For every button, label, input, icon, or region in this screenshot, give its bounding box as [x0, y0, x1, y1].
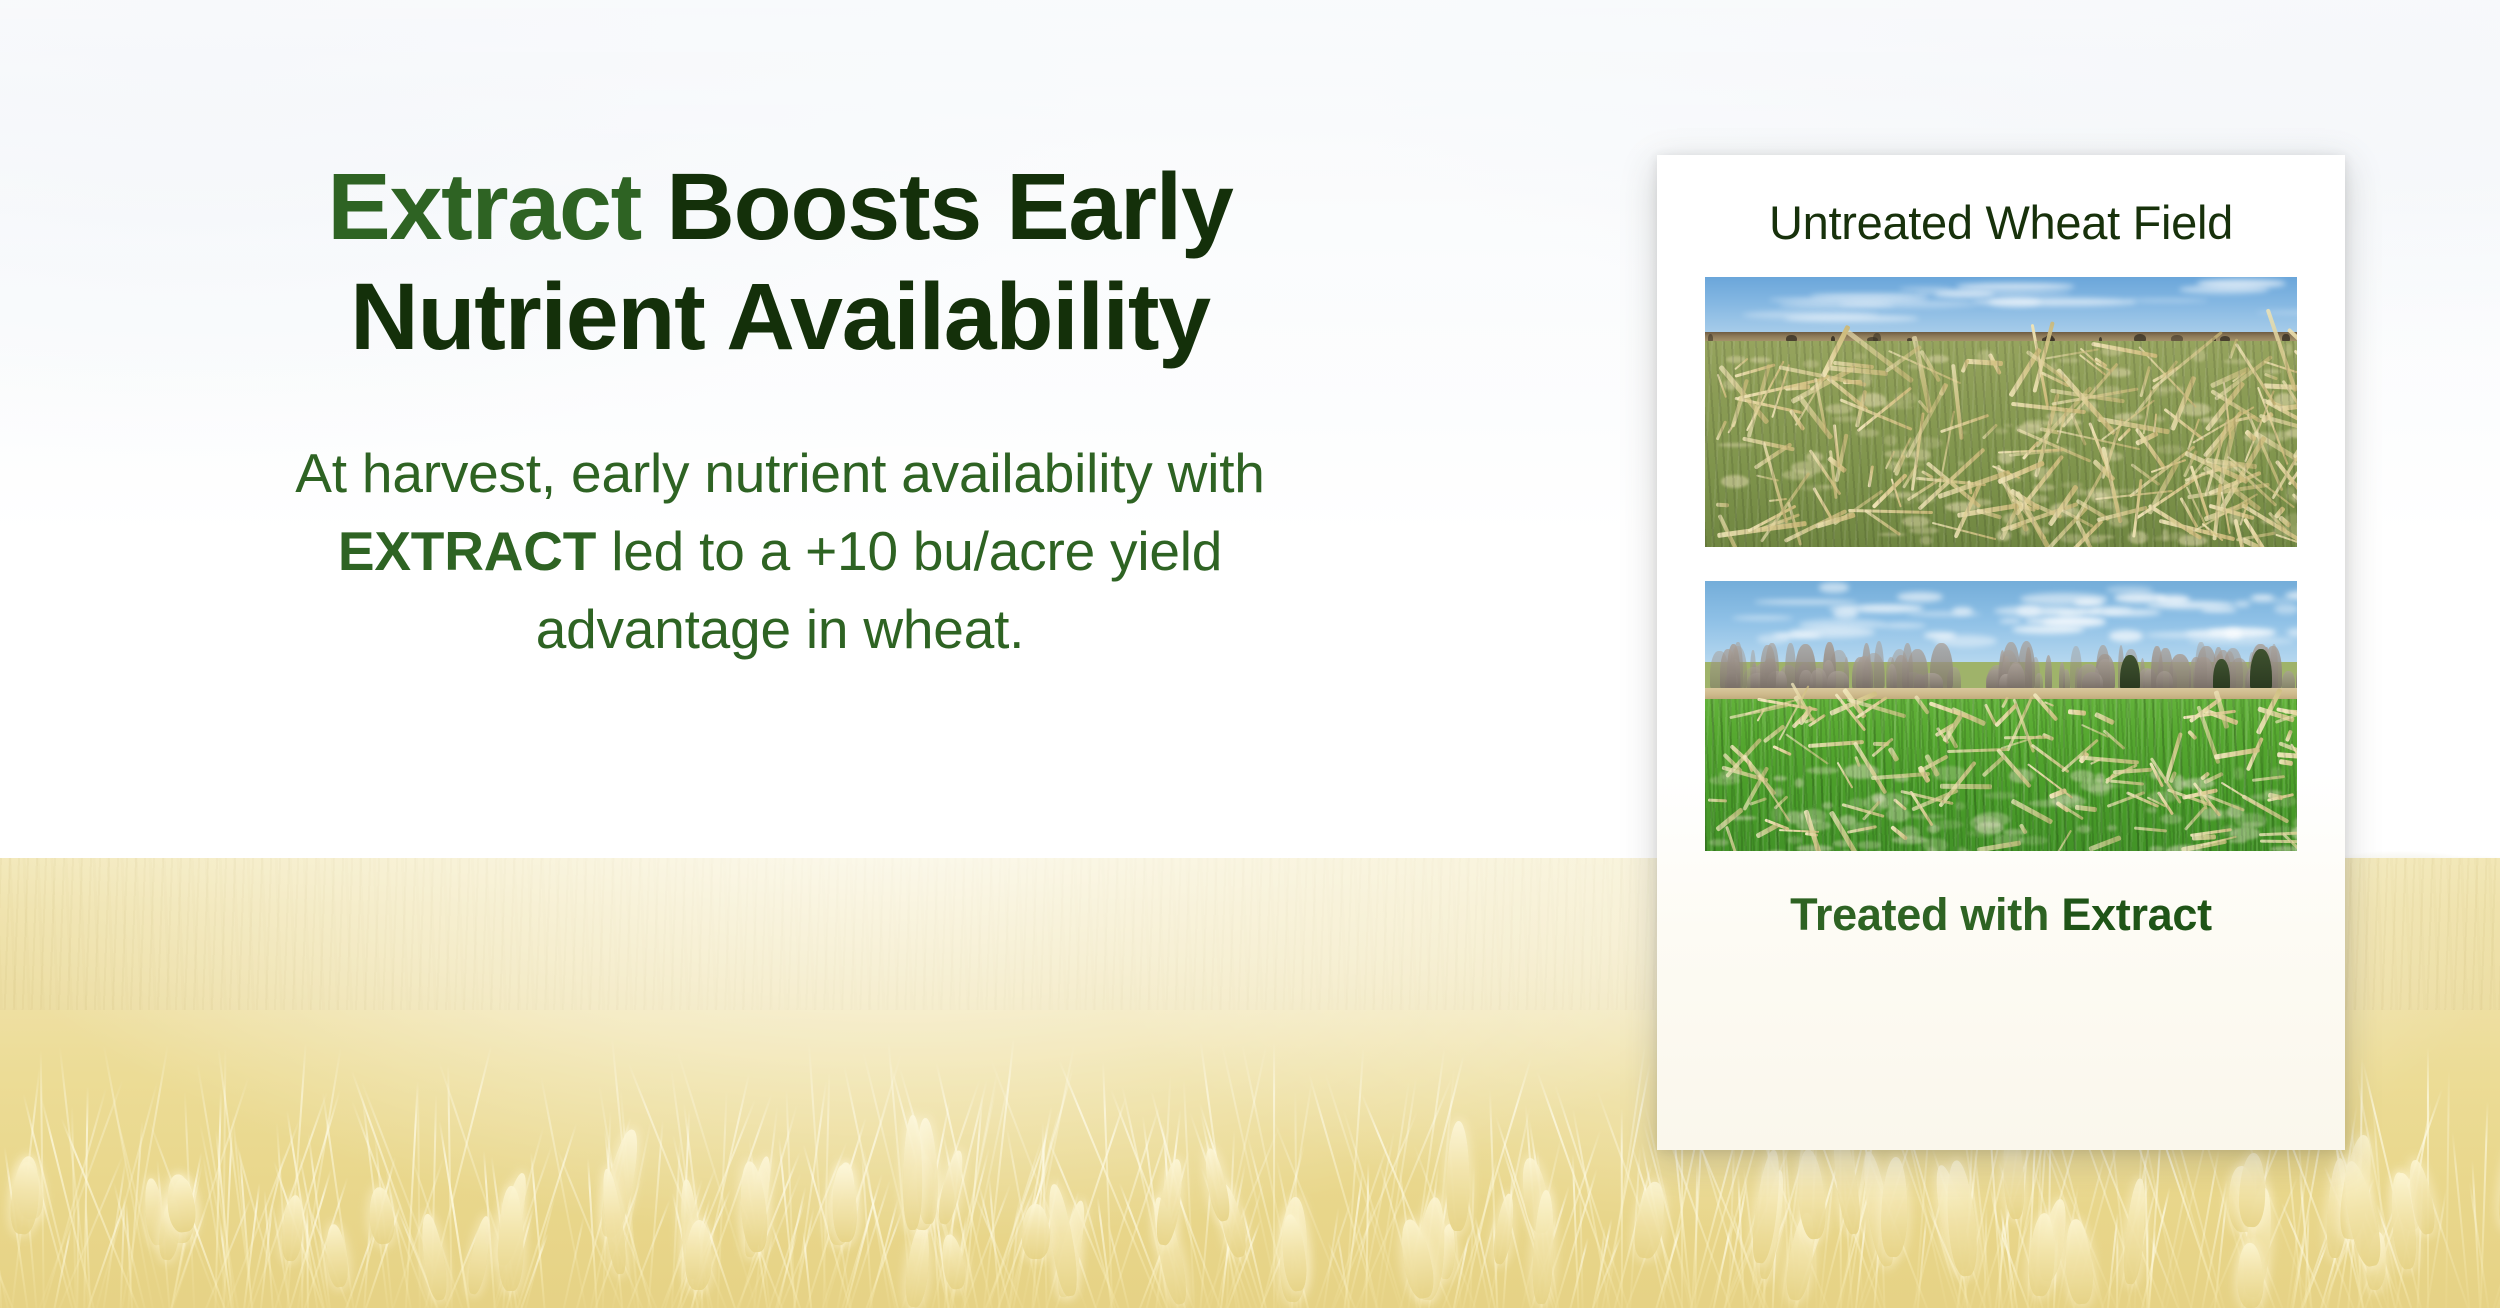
headline-brand-word: Extract	[327, 154, 641, 260]
comparison-card: Untreated Wheat Field Treated with Extra…	[1657, 155, 2345, 1150]
subcopy-emphasis: EXTRACT	[338, 520, 596, 582]
untreated-wheat-field-photo	[1705, 277, 2297, 547]
card-caption-brand: Extract	[2061, 889, 2211, 940]
card-title-untreated: Untreated Wheat Field	[1769, 195, 2233, 250]
marketing-copy-block: Extract Boosts Early Nutrient Availabili…	[0, 0, 1560, 860]
page-subcopy: At harvest, early nutrient availability …	[215, 434, 1345, 668]
subcopy-after: led to a +10 bu/acre yield advantage in …	[536, 520, 1222, 660]
card-caption-before: Treated with	[1790, 889, 2061, 940]
card-caption-treated: Treated with Extract	[1790, 889, 2212, 941]
page-headline: Extract Boosts Early Nutrient Availabili…	[190, 152, 1370, 372]
subcopy-before: At harvest, early nutrient availability …	[295, 442, 1264, 504]
treated-wheat-field-photo	[1705, 581, 2297, 851]
